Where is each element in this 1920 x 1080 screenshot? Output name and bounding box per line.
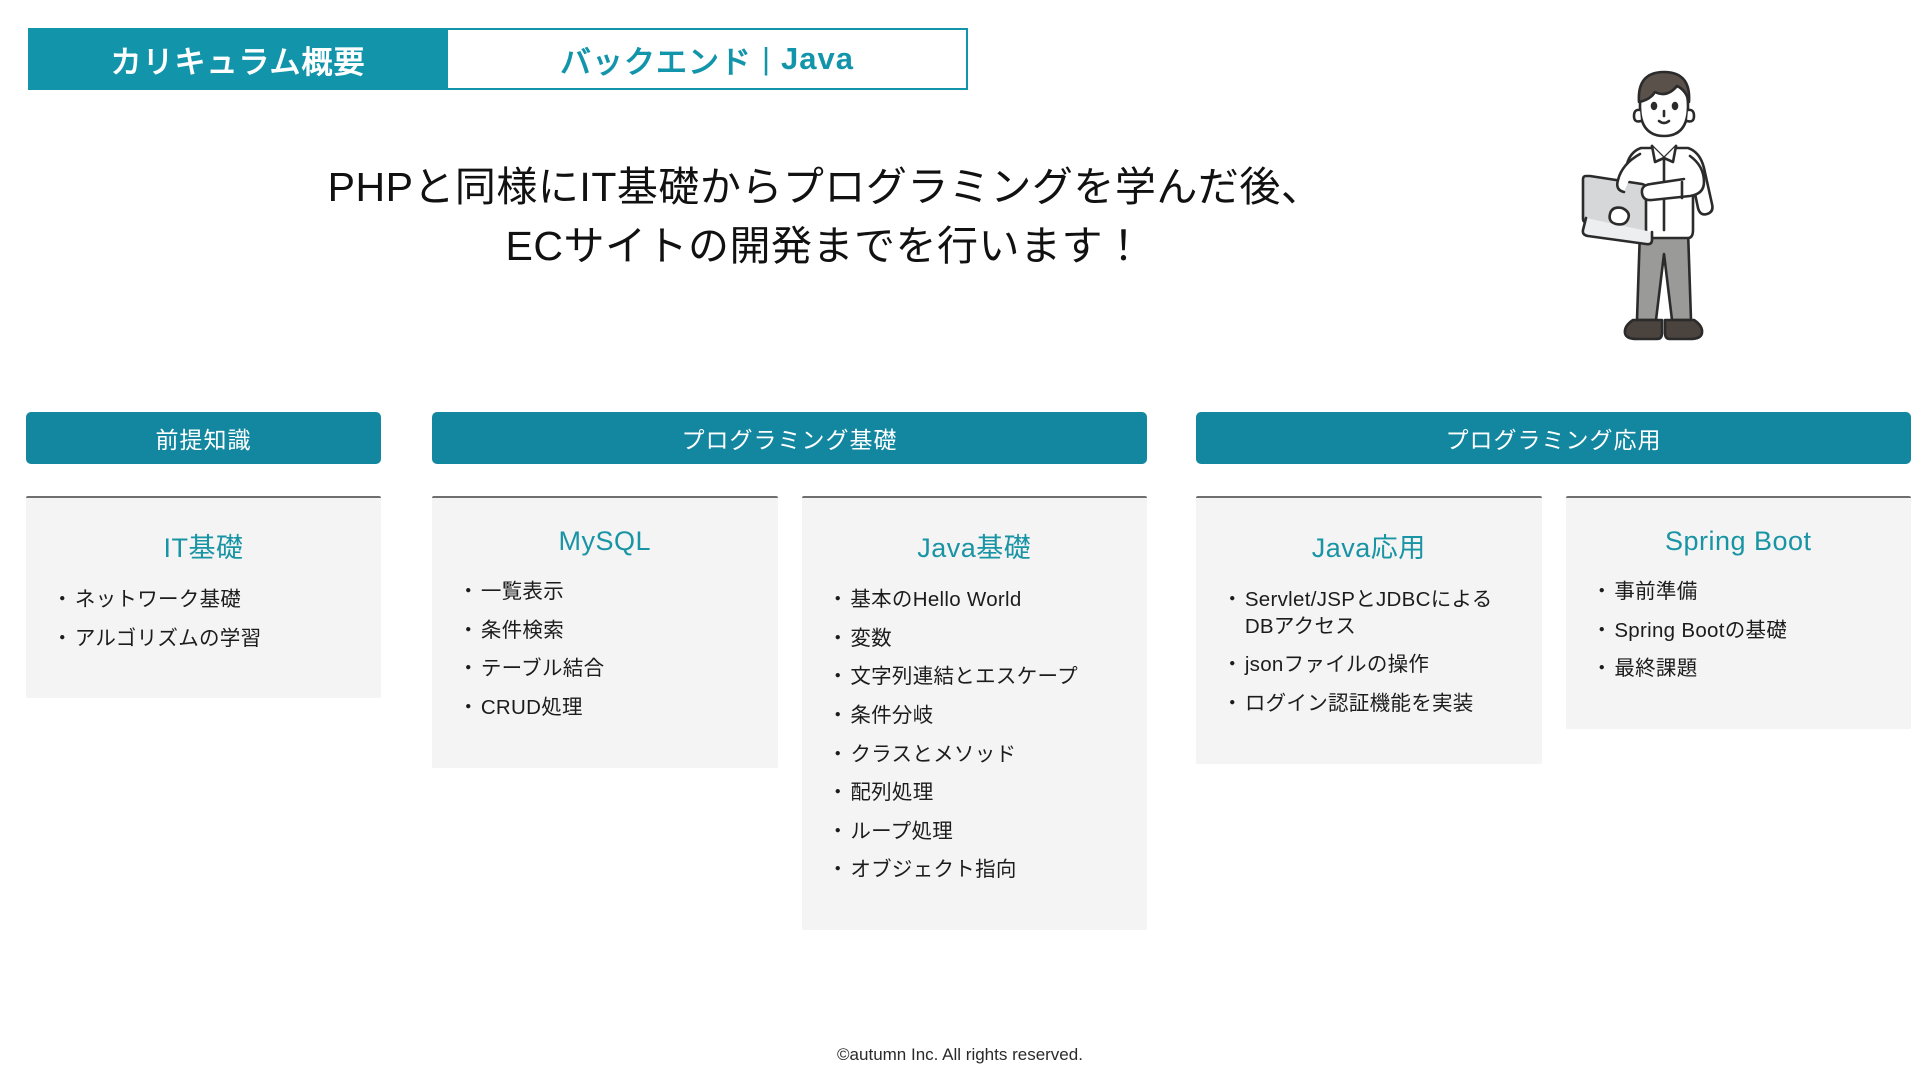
bullet-icon: ・ bbox=[1222, 691, 1243, 718]
column-band-programming-advanced: プログラミング応用 bbox=[1196, 412, 1911, 464]
list-item-label: jsonファイルの操作 bbox=[1245, 652, 1516, 679]
list-item: ・ ネットワーク基礎 bbox=[52, 587, 355, 614]
list-item-label: オブジェクト指向 bbox=[850, 857, 1121, 884]
column-band-prerequisite: 前提知識 bbox=[26, 412, 381, 464]
bullet-icon: ・ bbox=[828, 626, 849, 653]
column-cards: IT基礎 ・ ネットワーク基礎 ・ アルゴリズムの学習 bbox=[26, 496, 381, 698]
list-item: ・ 変数 bbox=[828, 626, 1122, 653]
bullet-icon: ・ bbox=[828, 857, 849, 884]
card-title: Java応用 bbox=[1222, 526, 1516, 565]
list-item: ・ 条件分岐 bbox=[828, 703, 1122, 730]
card-item-list: ・ ネットワーク基礎 ・ アルゴリズムの学習 bbox=[52, 587, 355, 652]
card-item-list: ・ 事前準備 ・ Spring Bootの基礎 ・ 最終課題 bbox=[1592, 579, 1886, 683]
bullet-icon: ・ bbox=[1592, 656, 1613, 683]
card-it-basics: IT基礎 ・ ネットワーク基礎 ・ アルゴリズムの学習 bbox=[26, 496, 381, 698]
list-item-label: 一覧表示 bbox=[481, 579, 752, 606]
list-item-label: クラスとメソッド bbox=[850, 742, 1121, 769]
column-cards: MySQL ・ 一覧表示 ・ 条件検索 ・ テーブル結合 bbox=[432, 496, 1147, 930]
lead-line-1: PHPと同様にIT基礎からプログラミングを学んだ後、 bbox=[210, 158, 1440, 217]
list-item: ・ 文字列連結とエスケープ bbox=[828, 664, 1122, 691]
list-item-label: ログイン認証機能を実装 bbox=[1245, 691, 1516, 718]
list-item: ・ ログイン認証機能を実装 bbox=[1222, 691, 1516, 718]
bullet-icon: ・ bbox=[828, 819, 849, 846]
list-item: ・ 基本のHello World bbox=[828, 587, 1122, 614]
bullet-icon: ・ bbox=[1592, 618, 1613, 645]
footer-copyright: ©autumn Inc. All rights reserved. bbox=[0, 1045, 1920, 1065]
list-item: ・ 配列処理 bbox=[828, 780, 1122, 807]
list-item: ・ テーブル結合 bbox=[458, 656, 752, 683]
card-title: IT基礎 bbox=[52, 526, 355, 565]
bullet-icon: ・ bbox=[1592, 579, 1613, 606]
bullet-icon: ・ bbox=[828, 703, 849, 730]
bullet-icon: ・ bbox=[52, 587, 73, 614]
list-item: ・ Servlet/JSPとJDBCによるDBアクセス bbox=[1222, 587, 1516, 640]
list-item: ・ jsonファイルの操作 bbox=[1222, 652, 1516, 679]
column-prerequisite: 前提知識 IT基礎 ・ ネットワーク基礎 ・ アルゴリズムの学習 bbox=[26, 412, 381, 698]
list-item-label: 変数 bbox=[850, 626, 1121, 653]
list-item-label: Spring Bootの基礎 bbox=[1614, 618, 1885, 645]
card-title: Spring Boot bbox=[1592, 526, 1886, 557]
card-title: MySQL bbox=[458, 526, 752, 557]
header-subtitle-right: Java bbox=[781, 41, 854, 77]
bullet-icon: ・ bbox=[458, 579, 479, 606]
list-item: ・ Spring Bootの基礎 bbox=[1592, 618, 1886, 645]
bullet-icon: ・ bbox=[828, 780, 849, 807]
bullet-icon: ・ bbox=[458, 656, 479, 683]
list-item-label: CRUD処理 bbox=[481, 695, 752, 722]
bullet-icon: ・ bbox=[458, 618, 479, 645]
card-title: Java基礎 bbox=[828, 526, 1122, 565]
column-band-label: プログラミング応用 bbox=[1446, 421, 1662, 455]
list-item-label: ネットワーク基礎 bbox=[75, 587, 355, 614]
list-item-label: 基本のHello World bbox=[850, 587, 1121, 614]
column-cards: Java応用 ・ Servlet/JSPとJDBCによるDBアクセス ・ jso… bbox=[1196, 496, 1911, 764]
card-spring-boot: Spring Boot ・ 事前準備 ・ Spring Bootの基礎 ・ 最終 bbox=[1566, 496, 1912, 729]
list-item: ・ 条件検索 bbox=[458, 618, 752, 645]
card-item-list: ・ Servlet/JSPとJDBCによるDBアクセス ・ jsonファイルの操… bbox=[1222, 587, 1516, 718]
card-item-list: ・ 一覧表示 ・ 条件検索 ・ テーブル結合 ・ bbox=[458, 579, 752, 722]
list-item-label: 文字列連結とエスケープ bbox=[850, 664, 1121, 691]
card-item-list: ・ 基本のHello World ・ 変数 ・ 文字列連結とエスケープ ・ bbox=[828, 587, 1122, 884]
bullet-icon: ・ bbox=[1222, 652, 1243, 679]
column-band-label: プログラミング基礎 bbox=[682, 421, 898, 455]
bullet-icon: ・ bbox=[828, 742, 849, 769]
bullet-icon: ・ bbox=[828, 587, 849, 614]
card-mysql: MySQL ・ 一覧表示 ・ 条件検索 ・ テーブル結合 bbox=[432, 496, 778, 768]
list-item-label: Servlet/JSPとJDBCによるDBアクセス bbox=[1245, 587, 1516, 640]
bullet-icon: ・ bbox=[52, 626, 73, 653]
list-item-label: アルゴリズムの学習 bbox=[75, 626, 355, 653]
list-item-label: ループ処理 bbox=[850, 819, 1121, 846]
list-item-label: 最終課題 bbox=[1614, 656, 1885, 683]
card-java-advanced: Java応用 ・ Servlet/JSPとJDBCによるDBアクセス ・ jso… bbox=[1196, 496, 1542, 764]
header-subtitle-box: バックエンド | Java bbox=[448, 28, 968, 90]
header-subtitle-left: バックエンド bbox=[560, 37, 752, 82]
list-item: ・ 事前準備 bbox=[1592, 579, 1886, 606]
column-band-programming-basics: プログラミング基礎 bbox=[432, 412, 1147, 464]
list-item: ・ ループ処理 bbox=[828, 819, 1122, 846]
slide-header: カリキュラム概要 バックエンド | Java bbox=[28, 28, 968, 90]
list-item: ・ オブジェクト指向 bbox=[828, 857, 1122, 884]
bullet-icon: ・ bbox=[1222, 587, 1243, 640]
header-category-tag: カリキュラム概要 bbox=[28, 28, 448, 90]
lead-copy: PHPと同様にIT基礎からプログラミングを学んだ後、 ECサイトの開発までを行い… bbox=[210, 158, 1440, 277]
column-programming-advanced: プログラミング応用 Java応用 ・ Servlet/JSPとJDBCによるDB… bbox=[1196, 412, 1911, 764]
list-item-label: 条件分岐 bbox=[850, 703, 1121, 730]
person-with-laptop-icon bbox=[1578, 58, 1768, 358]
header-category-label: カリキュラム概要 bbox=[110, 37, 365, 82]
list-item: ・ 一覧表示 bbox=[458, 579, 752, 606]
list-item: ・ クラスとメソッド bbox=[828, 742, 1122, 769]
card-java-basics: Java基礎 ・ 基本のHello World ・ 変数 ・ 文字列連結とエスケ bbox=[802, 496, 1148, 930]
bullet-icon: ・ bbox=[828, 664, 849, 691]
list-item-label: テーブル結合 bbox=[481, 656, 752, 683]
list-item-label: 事前準備 bbox=[1614, 579, 1885, 606]
slide-root: カリキュラム概要 バックエンド | Java PHPと同様にIT基礎からプログラ… bbox=[0, 0, 1920, 1080]
list-item-label: 配列処理 bbox=[850, 780, 1121, 807]
column-band-label: 前提知識 bbox=[156, 421, 252, 455]
list-item: ・ アルゴリズムの学習 bbox=[52, 626, 355, 653]
lead-line-2: ECサイトの開発までを行います！ bbox=[210, 217, 1440, 276]
list-item: ・ CRUD処理 bbox=[458, 695, 752, 722]
column-programming-basics: プログラミング基礎 MySQL ・ 一覧表示 ・ 条件検索 bbox=[432, 412, 1147, 930]
list-item: ・ 最終課題 bbox=[1592, 656, 1886, 683]
bullet-icon: ・ bbox=[458, 695, 479, 722]
list-item-label: 条件検索 bbox=[481, 618, 752, 645]
curriculum-columns: 前提知識 IT基礎 ・ ネットワーク基礎 ・ アルゴリズムの学習 bbox=[0, 412, 1920, 932]
header-subtitle-divider: | bbox=[762, 41, 771, 77]
